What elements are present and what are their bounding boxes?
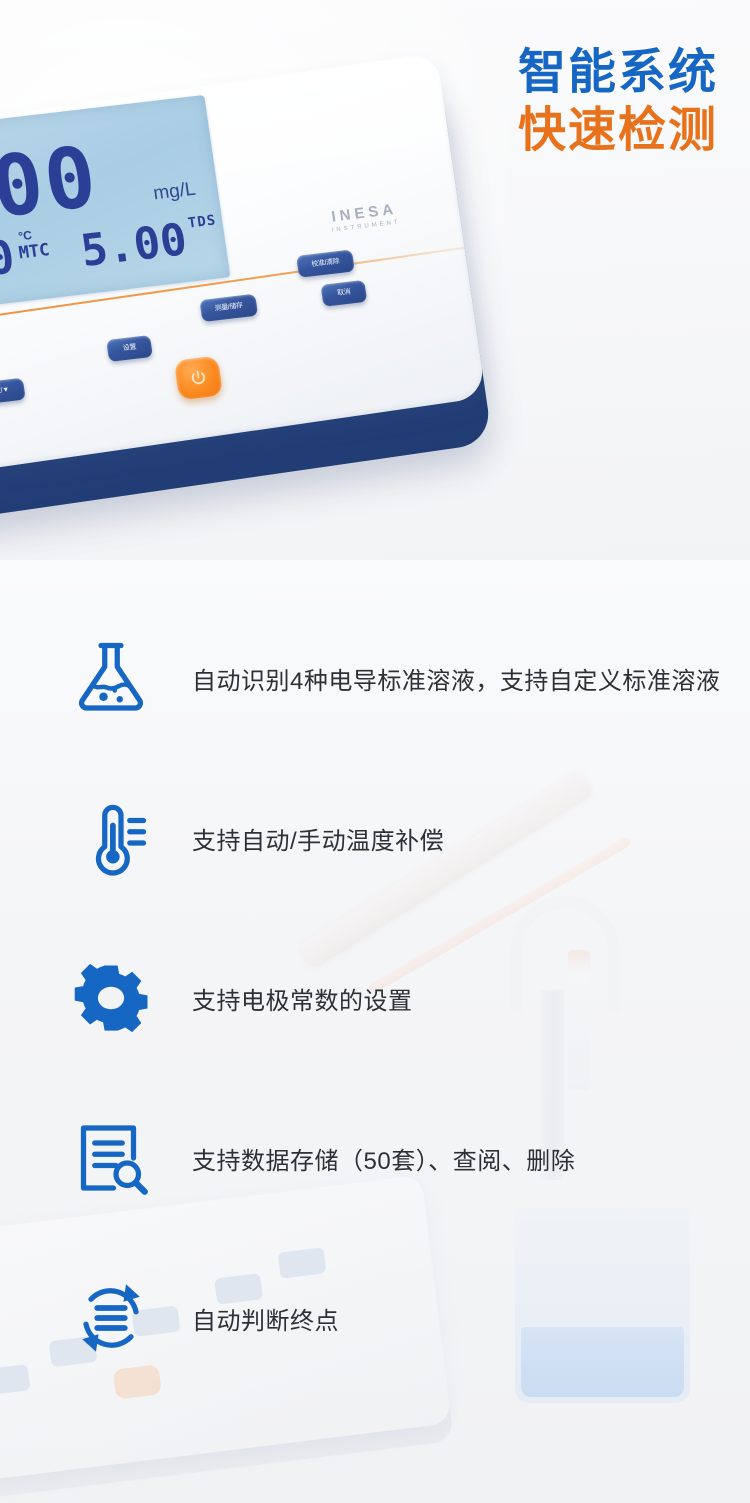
product-detail-page: 智能系统 快速检测 Ec 0.00 mg/L TDS 25.0 °C MTC 5…	[0, 0, 750, 1503]
feature-item: 支持数据存储（50套）、查阅、删除	[0, 1078, 750, 1238]
feature-item: 支持电极常数的设置	[0, 918, 750, 1078]
headline-line-1: 智能系统	[518, 46, 718, 100]
auto-refresh-icon	[66, 1278, 156, 1358]
thermometer-icon	[66, 798, 156, 878]
feature-text: 支持电极常数的设置	[192, 981, 413, 1016]
hero-section: 智能系统 快速检测 Ec 0.00 mg/L TDS 25.0 °C MTC 5…	[0, 0, 750, 560]
device-button-setting[interactable]: 设置	[106, 335, 153, 362]
power-icon	[188, 368, 208, 388]
feature-text: 支持自动/手动温度补偿	[192, 821, 444, 856]
feature-text: 自动判断终点	[192, 1301, 339, 1336]
power-button[interactable]	[174, 356, 223, 401]
device-button-measure-store[interactable]: 测量/储存	[199, 294, 258, 322]
feature-text: 自动识别4种电导标准溶液，支持自定义标准溶液	[192, 661, 720, 696]
flask-icon	[66, 638, 156, 718]
feature-item: 支持自动/手动温度补偿	[0, 758, 750, 918]
document-search-icon	[66, 1118, 156, 1198]
feature-text: 支持数据存储（50套）、查阅、删除	[192, 1141, 575, 1176]
lcd-main-unit: mg/L	[152, 179, 197, 206]
brand-mark: INESA INSTRUMENT	[328, 201, 400, 234]
device-button-calibrate-clear[interactable]: 校准/清除	[296, 249, 355, 277]
lcd-temperature-value: 25.0	[0, 233, 17, 291]
device-button-cancel[interactable]: 取消	[320, 280, 367, 307]
hero-headline: 智能系统 快速检测	[518, 46, 718, 158]
headline-line-2: 快速检测	[518, 104, 718, 158]
feature-list: 自动识别4种电导标准溶液，支持自定义标准溶液 支持自动/手动温度补偿	[0, 560, 750, 1398]
conductivity-meter-photo: Ec 0.00 mg/L TDS 25.0 °C MTC 5.00 INESA …	[0, 50, 513, 534]
lcd-secondary-tag: TDS	[187, 212, 217, 231]
feature-item: 自动识别4种电导标准溶液，支持自定义标准溶液	[0, 598, 750, 758]
features-section: 自动识别4种电导标准溶液，支持自定义标准溶液 支持自动/手动温度补偿	[0, 560, 750, 1503]
lcd-compensation-label: MTC	[17, 240, 50, 263]
feature-item: 自动判断终点	[0, 1238, 750, 1398]
lcd-secondary-value: 5.00	[78, 218, 190, 274]
gear-icon	[66, 958, 156, 1038]
device-button-calibrate-down[interactable]: 标定/▼	[0, 378, 26, 406]
